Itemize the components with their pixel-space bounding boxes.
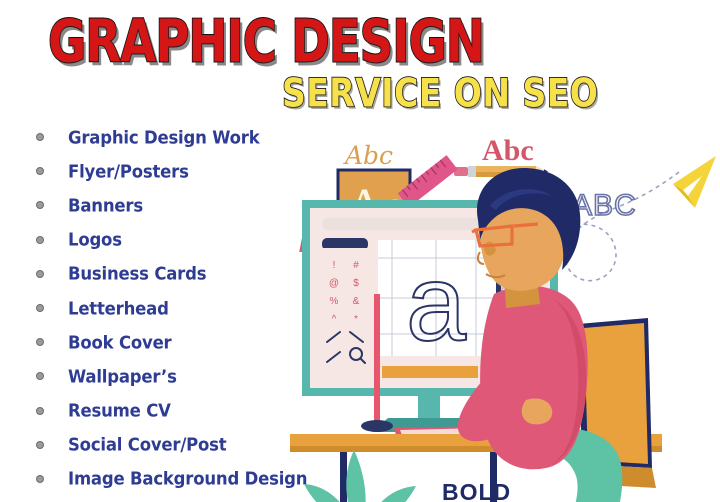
list-item-label: Banners — [68, 195, 143, 216]
poster-canvas: GRAPHIC DESIGN SERVICE ON SEO Graphic De… — [0, 0, 720, 502]
toolbar-symbol[interactable]: & — [353, 296, 360, 307]
list-item-label: Wallpaper’s — [68, 366, 177, 387]
canvas-letter: a — [406, 242, 467, 363]
abc-script-label: Abc — [343, 141, 393, 170]
bullet-icon — [36, 236, 44, 244]
toolbar-symbol[interactable]: ! — [333, 260, 336, 271]
list-item-label: Resume CV — [68, 400, 171, 421]
bullet-icon — [36, 407, 44, 415]
list-item-label: Social Cover/Post — [68, 434, 226, 455]
page-title: GRAPHIC DESIGN — [48, 8, 484, 76]
monitor-neck — [418, 396, 440, 418]
toolbar-symbol[interactable]: $ — [353, 278, 359, 289]
plant-icon — [300, 450, 416, 502]
abc-outline-label: ABC — [572, 189, 637, 222]
page-subtitle: SERVICE ON SEO — [282, 70, 598, 116]
toolbar-symbol[interactable]: @ — [329, 278, 339, 289]
bullet-icon — [36, 475, 44, 483]
bold-label: BOLD — [442, 479, 511, 502]
bullet-icon — [36, 441, 44, 449]
bullet-icon — [36, 167, 44, 175]
bullet-icon — [36, 201, 44, 209]
list-item-label: Image Background Design — [68, 469, 307, 490]
paper-plane-icon — [673, 156, 716, 208]
list-item-label: Book Cover — [68, 332, 172, 353]
abc-serif-label: Abc — [482, 134, 534, 167]
toolbar-symbol[interactable]: ^ — [332, 314, 337, 325]
list-item-label: Flyer/Posters — [68, 161, 189, 182]
bullet-icon — [36, 304, 44, 312]
toolbar-symbol[interactable]: # — [353, 260, 359, 271]
bullet-icon — [36, 270, 44, 278]
toolbar-symbol[interactable]: % — [330, 296, 339, 307]
bullet-icon — [36, 372, 44, 380]
bullet-icon — [36, 338, 44, 346]
list-item-label: Business Cards — [68, 263, 206, 284]
designer-at-desk-illustration: ABC Abc Aa Abc — [290, 128, 720, 502]
bullet-icon — [36, 133, 44, 141]
list-item-label: Graphic Design Work — [68, 127, 259, 148]
list-item-label: Logos — [68, 229, 122, 250]
list-item-label: Letterhead — [68, 298, 169, 319]
toolbar-symbol[interactable]: * — [354, 314, 358, 325]
